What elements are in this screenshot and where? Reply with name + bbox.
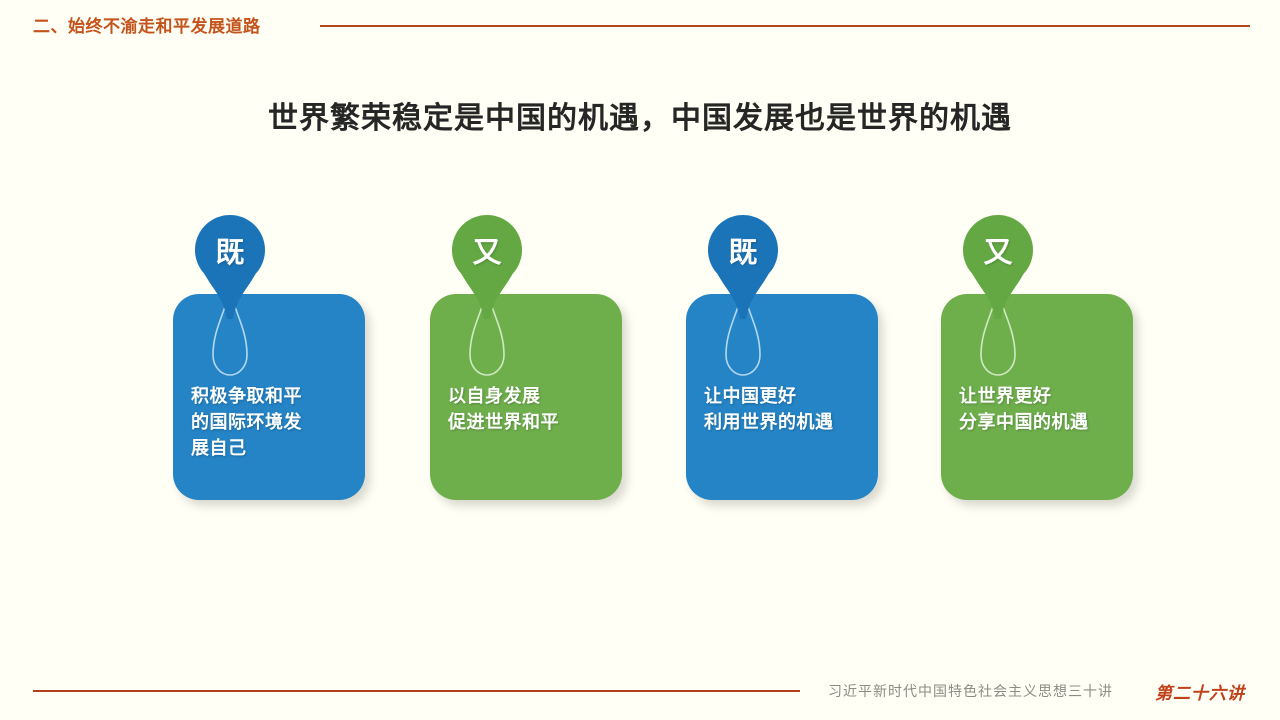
pin-badge-icon: 又	[963, 215, 1033, 319]
footer-lecture-number: 第二十六讲	[1155, 679, 1245, 704]
header-divider-line	[320, 25, 1250, 27]
card-row: 既 积极争取和平 的国际环境发 展自己 又 以自身发展 促进世界和平	[0, 215, 1280, 515]
slide-header: 二、始终不渝走和平发展道路	[0, 0, 1280, 52]
concept-card[interactable]: 又 让世界更好 分享中国的机遇	[941, 215, 1133, 505]
section-label: 二、始终不渝走和平发展道路	[33, 12, 261, 37]
page-title: 世界繁荣稳定是中国的机遇，中国发展也是世界的机遇	[0, 93, 1280, 137]
pin-badge-icon: 既	[195, 215, 265, 319]
concept-card[interactable]: 又 以自身发展 促进世界和平	[430, 215, 622, 505]
card-text: 让中国更好 利用世界的机遇	[704, 383, 880, 435]
footer-divider-line	[33, 690, 800, 692]
card-text: 让世界更好 分享中国的机遇	[959, 383, 1135, 435]
pin-badge-icon: 又	[452, 215, 522, 319]
footer-series-title: 习近平新时代中国特色社会主义思想三十讲	[828, 681, 1113, 701]
pin-badge-icon: 既	[708, 215, 778, 319]
concept-card[interactable]: 既 让中国更好 利用世界的机遇	[686, 215, 878, 505]
concept-card[interactable]: 既 积极争取和平 的国际环境发 展自己	[173, 215, 365, 505]
card-text: 积极争取和平 的国际环境发 展自己	[191, 383, 367, 461]
card-text: 以自身发展 促进世界和平	[448, 383, 624, 435]
